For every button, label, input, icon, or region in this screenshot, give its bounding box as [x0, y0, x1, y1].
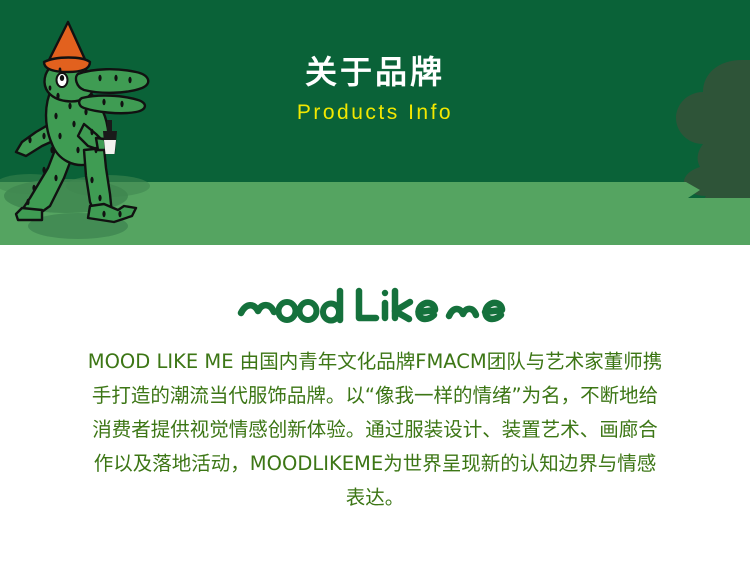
content-section: MOOD LIKE ME 由国内青年文化品牌FMACM团队与艺术家董师携手打造的… — [0, 245, 750, 575]
banner-text-block: 关于品牌 Products Info — [0, 52, 750, 126]
hero-banner: 关于品牌 Products Info — [0, 0, 750, 245]
brand-logo-wrap — [0, 285, 750, 331]
page-root: 关于品牌 Products Info — [0, 0, 750, 575]
page-title: 关于品牌 — [0, 52, 750, 92]
mood-like-me-logo — [235, 285, 515, 331]
mascot-back-foot — [16, 208, 42, 220]
brand-description: MOOD LIKE ME 由国内青年文化品牌FMACM团队与艺术家董师携手打造的… — [85, 345, 665, 515]
page-subtitle: Products Info — [0, 100, 750, 126]
